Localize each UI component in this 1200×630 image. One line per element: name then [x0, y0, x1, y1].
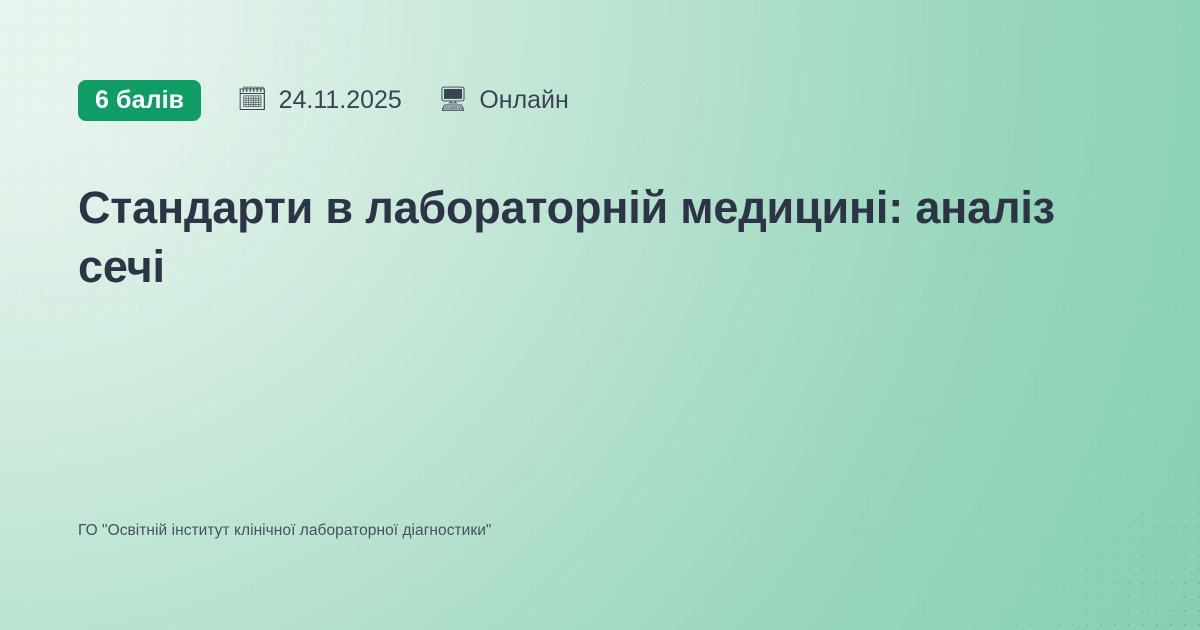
event-format-value: Онлайн	[479, 88, 569, 113]
event-format: 🖥 Онлайн	[438, 88, 569, 113]
computer-icon: 🖥	[438, 88, 468, 112]
event-title: Стандарти в лабораторній медицині: аналі…	[78, 122, 1118, 296]
calendar-icon: 🗓	[237, 88, 267, 112]
event-card: 6 балів 🗓 24.11.2025 🖥 Онлайн Стандарти …	[0, 0, 1200, 630]
event-date: 🗓 24.11.2025	[237, 88, 402, 113]
meta-row: 6 балів 🗓 24.11.2025 🖥 Онлайн	[78, 78, 1122, 122]
event-date-value: 24.11.2025	[279, 88, 402, 113]
points-badge: 6 балів	[78, 80, 201, 121]
organizer-name: ГО "Освітній інститут клінічної лаборато…	[78, 520, 1122, 596]
card-content: 6 балів 🗓 24.11.2025 🖥 Онлайн Стандарти …	[0, 0, 1200, 630]
layout-spacer	[78, 296, 1122, 520]
